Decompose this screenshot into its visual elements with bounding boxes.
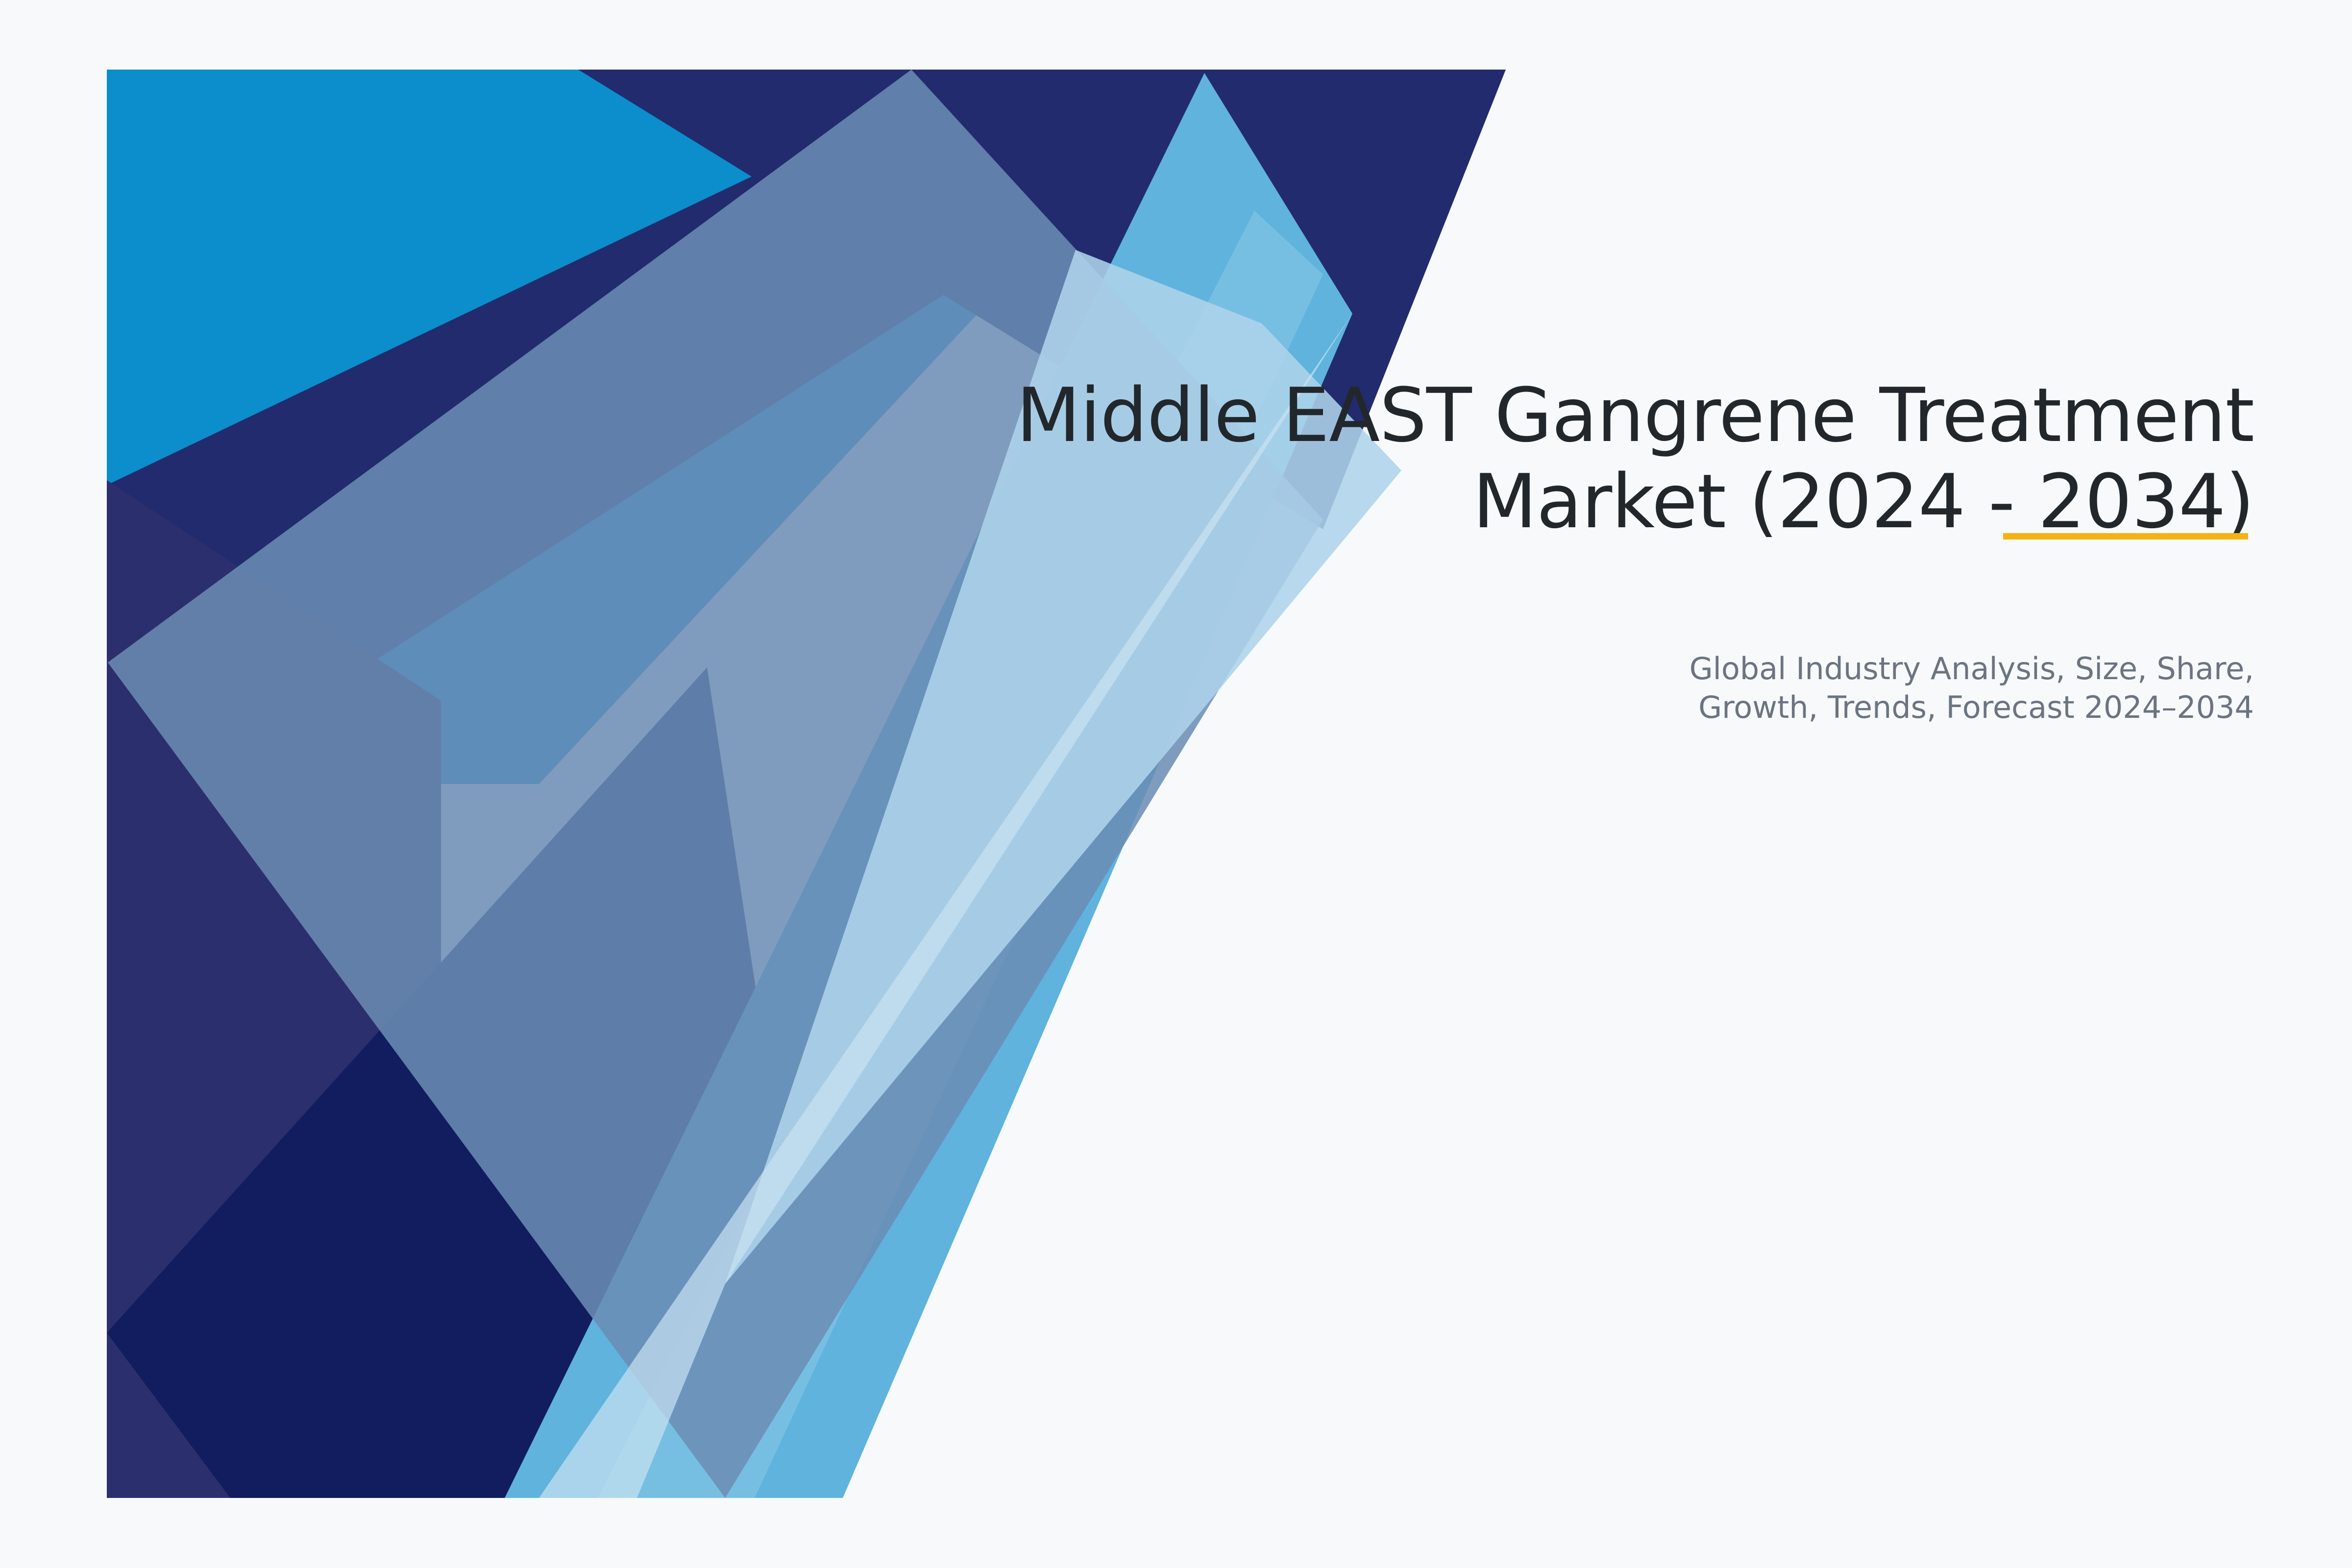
report-cover: Middle EAST Gangrene Treatment Market (2… [0, 0, 2352, 1568]
shape-sky-band [505, 73, 1352, 1498]
page-title: Middle EAST Gangrene Treatment Market (2… [931, 372, 2254, 545]
shape-slate-quad [108, 70, 1323, 1498]
shape-navy-deep-wedge [107, 667, 833, 1498]
title-underline-accent [2003, 533, 2248, 539]
cover-artwork [0, 0, 2352, 1568]
shape-indigo-left-column [107, 480, 441, 1498]
cover-text-block: Middle EAST Gangrene Treatment Market (2… [931, 372, 2254, 545]
cover-subtitle: Global Industry Analysis, Size, Share, G… [1421, 649, 2254, 727]
